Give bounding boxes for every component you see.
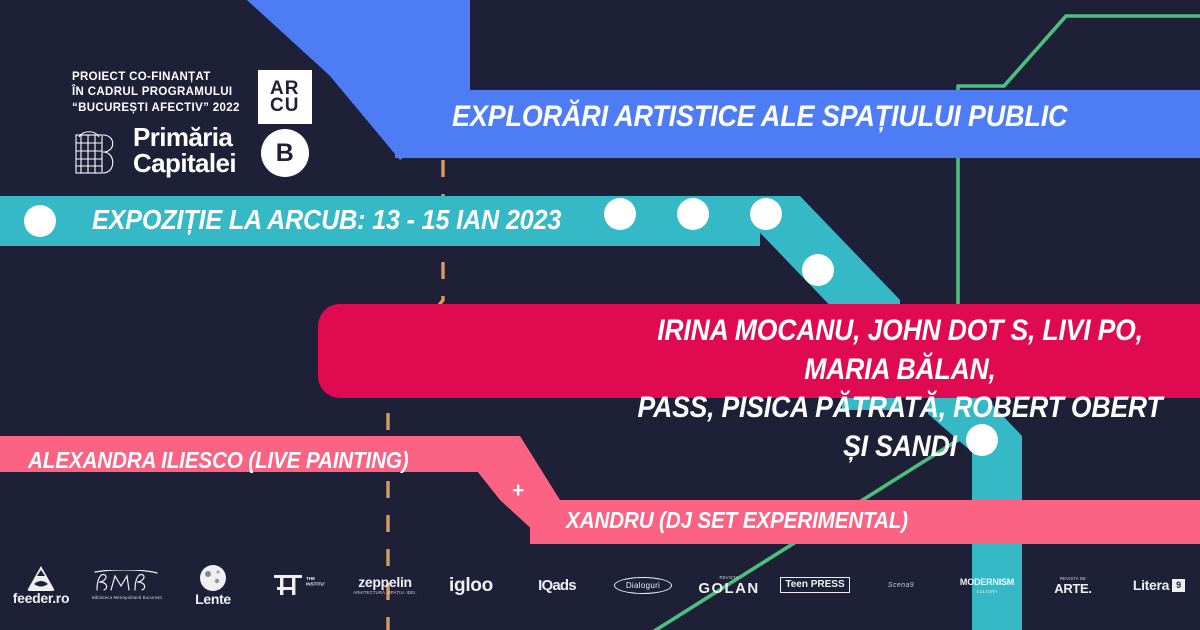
live-painting-credit: ALEXANDRA ILIESCO (LIVE PAINTING) xyxy=(28,447,408,474)
pink-connector xyxy=(462,436,560,500)
sponsor-logo-lente[interactable]: Lente xyxy=(170,556,256,614)
moon-icon xyxy=(199,564,227,592)
sponsor-subtitle: CULTURĂ xyxy=(977,589,998,594)
sponsor-logo-strip: S BAR DE CAROL feeder.ro xyxy=(0,556,1200,614)
sponsor-subtitle: REVISTA xyxy=(719,575,738,580)
svg-text:INSTITUTE: INSTITUTE xyxy=(306,582,325,587)
station-dot xyxy=(802,254,834,286)
litera9-lockup: Litera 9 xyxy=(1133,578,1185,592)
station-dot xyxy=(604,198,636,230)
pmb-building-icon xyxy=(72,125,124,177)
sponsor-name: Dialoguri xyxy=(614,577,672,594)
sponsor-logo-the-institute[interactable]: THE INSTITUTE xyxy=(256,556,342,614)
exhibition-info: EXPOZIȚIE LA ARCUB: 13 - 15 IAN 2023 xyxy=(92,204,561,236)
funding-text-column: PROIECT CO-FINANȚAT ÎN CADRUL PROGRAMULU… xyxy=(72,70,240,177)
sponsor-badge: 9 xyxy=(1172,579,1185,592)
funding-line-1: PROIECT CO-FINANȚAT xyxy=(72,70,240,85)
sponsor-name: Teen PRESS xyxy=(780,577,849,592)
poster-canvas: PROIECT CO-FINANȚAT ÎN CADRUL PROGRAMULU… xyxy=(0,0,1200,630)
sponsor-logo-iqads[interactable]: IQads xyxy=(514,556,600,614)
city-hall-logo: Primăria Capitalei xyxy=(72,125,240,177)
sponsor-logo-igloo[interactable]: igloo xyxy=(428,556,514,614)
sponsor-name: IQads xyxy=(538,578,576,593)
artists-list: IRINA MOCANU, JOHN DOT S, LIVI PO, MARIA… xyxy=(630,312,1170,467)
funding-credit-text: PROIECT CO-FINANȚAT ÎN CADRUL PROGRAMULU… xyxy=(72,70,240,116)
city-hall-wordmark: Primăria Capitalei xyxy=(133,125,236,176)
sponsor-logo-feeder-ro[interactable]: feeder.ro xyxy=(0,556,84,614)
sponsor-name: feeder.ro xyxy=(13,591,69,605)
sponsor-logo-scena9[interactable]: Scena9 xyxy=(858,556,944,614)
arcub-square-mark: AR CU xyxy=(258,70,312,124)
funding-line-3: “BUCUREȘTI AFECTIV” 2022 xyxy=(72,101,240,116)
station-dot xyxy=(24,205,56,237)
sponsor-name: ARTE. xyxy=(1054,582,1092,595)
sponsor-logo-modernism[interactable]: MODERNISM CULTURĂ xyxy=(944,556,1030,614)
poster-title: EXPLORĂRI ARTISTICE ALE SPAȚIULUI PUBLIC xyxy=(452,100,1067,134)
sponsor-name: GOLAN xyxy=(698,581,759,596)
sponsor-name: igloo xyxy=(449,576,493,595)
sponsor-subtitle: Biblioteca Metropolitană București xyxy=(92,595,162,600)
sponsor-logo-zeppelin[interactable]: zeppelin ARHITECTURĂ. SPAȚIU. IDEI. xyxy=(342,556,428,614)
bmb-script-icon xyxy=(93,570,161,594)
sponsor-subtitle: ARHITECTURĂ. SPAȚIU. IDEI. xyxy=(353,590,417,595)
sponsor-name: Scena9 xyxy=(888,582,914,589)
sponsor-name: zeppelin xyxy=(358,575,412,589)
sponsor-logo-dialoguri[interactable]: Dialoguri xyxy=(600,556,686,614)
funding-line-2: ÎN CADRUL PROGRAMULUI xyxy=(72,85,240,100)
arcub-circle-letter: B xyxy=(276,139,294,168)
sponsor-logo-bmb[interactable]: Biblioteca Metropolitană București xyxy=(84,556,170,614)
sponsor-logo-revista-arte[interactable]: REVISTA DE ARTE. xyxy=(1030,556,1116,614)
triangle-icon xyxy=(27,565,55,591)
sponsor-logo-litera9[interactable]: Litera 9 xyxy=(1116,556,1200,614)
sponsor-logo-golan[interactable]: REVISTA GOLAN xyxy=(686,556,772,614)
sponsor-name: Litera xyxy=(1133,578,1169,592)
funding-logo-block: PROIECT CO-FINANȚAT ÎN CADRUL PROGRAMULU… xyxy=(72,70,312,177)
tt-icon: THE INSTITUTE xyxy=(273,571,325,599)
station-dot xyxy=(677,198,709,230)
sponsor-subtitle: REVISTA DE xyxy=(1060,576,1086,581)
sponsor-name: MODERNISM xyxy=(960,578,1014,588)
arcub-circle-mark: B xyxy=(261,129,309,177)
dj-set-credit: XANDRU (DJ SET EXPERIMENTAL) xyxy=(566,507,908,534)
sponsor-logo-teen-press[interactable]: Teen PRESS xyxy=(772,556,858,614)
arcub-logo: AR CU B xyxy=(258,70,312,177)
sponsor-name: Lente xyxy=(195,592,231,606)
svg-text:THE: THE xyxy=(306,576,315,581)
station-dot xyxy=(750,198,782,230)
arcub-square-line-2: CU xyxy=(270,97,299,114)
city-hall-name-line-2: Capitalei xyxy=(133,151,236,176)
plus-icon: + xyxy=(512,480,524,501)
